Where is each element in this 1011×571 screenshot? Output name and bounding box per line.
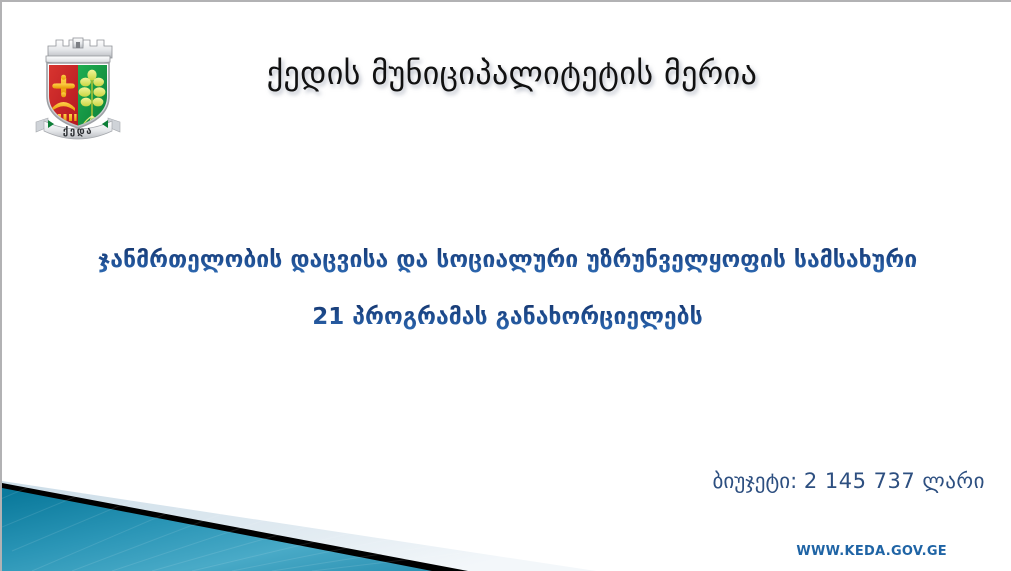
coat-of-arms-icon: ქედა [30, 24, 126, 148]
corner-decoration [2, 467, 662, 571]
presentation-slide: ქედა ქედის მუნიციპალიტეტის მერია ჯანმრთე… [0, 0, 1011, 571]
decor-texture [2, 467, 462, 571]
decor-teal-wedge [2, 488, 432, 571]
budget-amount: 2 145 737 ლარი [804, 469, 985, 493]
ribbon-text: ქედა [63, 126, 93, 137]
service-name-text: ჯანმრთელობის დაცვისა და სოციალური უზრუნვ… [98, 247, 917, 273]
page-title: ქედის მუნიციპალიტეტის მერია [152, 54, 872, 92]
budget-label: ბიუჯეტი: [713, 469, 798, 493]
castle-crown-icon [46, 38, 112, 65]
program-count-text: 21 პროგრამას განახორციელებს [312, 304, 702, 330]
budget-line: ბიუჯეტი: 2 145 737 ლარი [713, 469, 985, 493]
main-text-block: ჯანმრთელობის დაცვისა და სოციალური უზრუნვ… [2, 245, 1011, 332]
program-count-line: 21 პროგრამას განახორციელებს 21 პროგრამას… [2, 302, 1011, 332]
decor-black-stripe [2, 483, 468, 571]
website-url: WWW.KEDA.GOV.GE [796, 544, 947, 559]
shield-icon [47, 63, 109, 128]
service-name-line: ჯანმრთელობის დაცვისა და სოციალური უზრუნვ… [2, 245, 1011, 275]
decor-pale-band [2, 481, 596, 571]
